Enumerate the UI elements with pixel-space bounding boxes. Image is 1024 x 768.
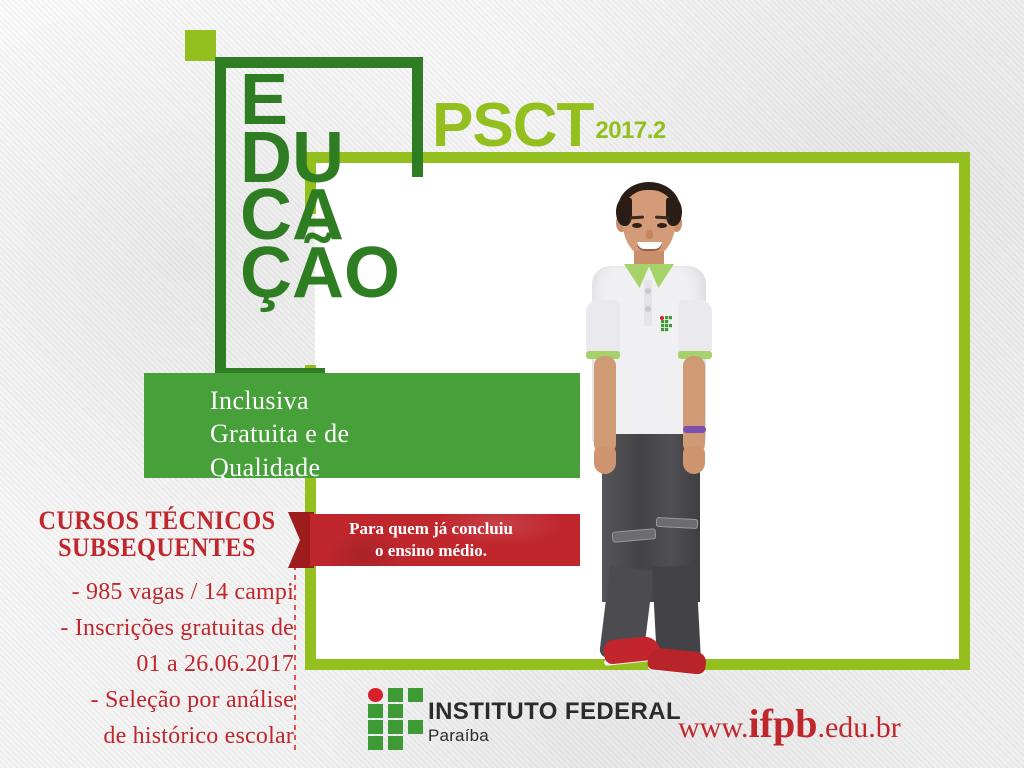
- wristband: [683, 426, 706, 433]
- logo-cell: [368, 720, 383, 734]
- exam-year: 2017.2: [595, 117, 665, 144]
- ribbon-line-2: o ensino médio.: [312, 540, 550, 562]
- course-info-block: CURSOS TÉCNICOS SUBSEQUENTES - 985 vagas…: [20, 508, 294, 754]
- arm-left: [594, 356, 616, 454]
- light-green-frame-right: [959, 152, 970, 670]
- bullet-dates: 01 a 26.06.2017: [20, 646, 294, 682]
- shirt-ifpb-logo-icon: [660, 316, 672, 332]
- institution-state: Paraíba: [428, 727, 681, 744]
- shirt-placket: [644, 280, 652, 326]
- smile: [637, 242, 662, 251]
- jeans-rip-right: [656, 517, 698, 529]
- accent-square-icon: [185, 30, 216, 61]
- logo-cell: [408, 688, 423, 702]
- hand-left: [594, 446, 616, 474]
- course-heading-line-2: SUBSEQUENTES: [30, 535, 285, 562]
- course-heading: CURSOS TÉCNICOS SUBSEQUENTES: [30, 508, 285, 562]
- bullet-vacancies: - 985 vagas / 14 campi: [20, 574, 294, 610]
- ribbon-line-1: Para quem já concluiu: [312, 518, 550, 540]
- eye-right: [657, 223, 667, 228]
- bullet-selection: - Seleção por análise: [20, 682, 294, 718]
- shirt-button-top: [645, 288, 651, 294]
- student-photo: [556, 168, 742, 668]
- dark-green-frame-left: [215, 57, 226, 379]
- slogan-line-2: Gratuita e de: [210, 417, 349, 450]
- ifpb-logo-icon: [368, 688, 424, 750]
- hand-right: [683, 446, 705, 474]
- slogan-text: Inclusiva Gratuita e de Qualidade: [210, 384, 349, 484]
- bullet-transcript: de histórico escolar: [20, 718, 294, 754]
- logo-cell: [388, 688, 403, 702]
- institution-name: INSTITUTO FEDERAL Paraíba: [428, 700, 681, 744]
- eligibility-ribbon: Para quem já concluiu o ensino médio.: [288, 512, 580, 568]
- website-url[interactable]: www.ifpb.edu.br: [678, 704, 901, 744]
- headline-line-4: ÇÃO: [240, 245, 492, 303]
- poster-canvas: E DU CA ÇÃO PSCT2017.2 Inclusiva Gratuit…: [0, 0, 1024, 768]
- slogan-line-3: Qualidade: [210, 451, 349, 484]
- hair-side-right: [666, 198, 682, 226]
- logo-cell: [408, 720, 423, 734]
- course-bullets: - 985 vagas / 14 campi - Inscrições grat…: [20, 574, 294, 754]
- exam-name: PSCT: [432, 91, 593, 160]
- sleeve-right: [678, 300, 712, 358]
- slogan-line-1: Inclusiva: [210, 384, 349, 417]
- exam-title: PSCT2017.2: [432, 95, 666, 157]
- sleeve-left: [586, 300, 620, 358]
- logo-cell: [388, 704, 403, 718]
- slogan-box: Inclusiva Gratuita e de Qualidade: [144, 373, 580, 478]
- nose: [646, 230, 653, 239]
- institution-title: INSTITUTO FEDERAL: [428, 700, 681, 724]
- eye-left: [632, 223, 642, 228]
- logo-cell: [388, 736, 403, 750]
- dotted-divider: [294, 555, 296, 755]
- bullet-enrollment: - Inscrições gratuitas de: [20, 610, 294, 646]
- url-suffix: .edu.br: [817, 711, 900, 744]
- ribbon-text: Para quem já concluiu o ensino médio.: [312, 518, 550, 562]
- hair-side-left: [616, 198, 632, 226]
- logo-cell: [388, 720, 403, 734]
- url-brand: ifpb: [749, 701, 818, 746]
- url-prefix: www.: [678, 711, 749, 744]
- logo-cell: [368, 736, 383, 750]
- logo-red-dot: [368, 688, 383, 702]
- shirt-button-bottom: [645, 306, 651, 312]
- arm-right: [683, 356, 705, 454]
- course-heading-line-1: CURSOS TÉCNICOS: [30, 508, 285, 535]
- logo-cell: [368, 704, 383, 718]
